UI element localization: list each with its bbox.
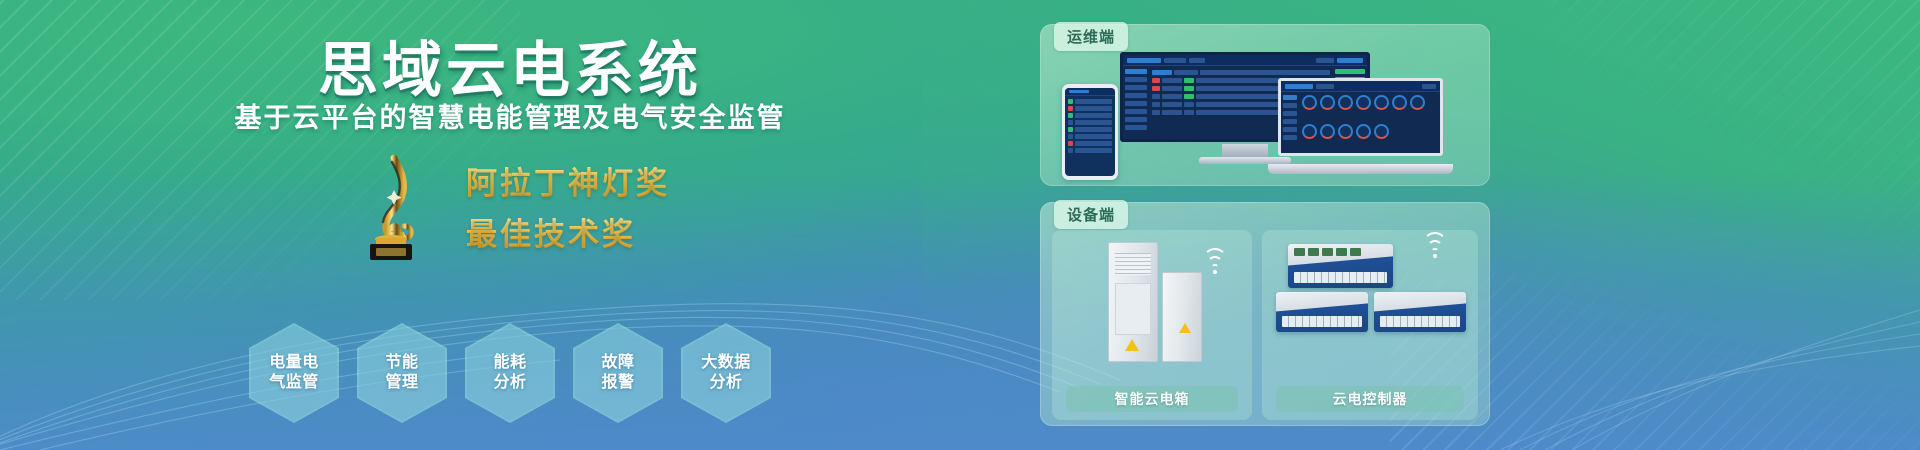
device-caption-cabinet: 智能云电箱 bbox=[1066, 386, 1238, 412]
gauge-dashboard-body bbox=[1281, 92, 1440, 153]
panel-devices-tag: 设备端 bbox=[1054, 200, 1128, 229]
gauge-icon bbox=[1356, 95, 1371, 110]
cabinet-main-body bbox=[1108, 242, 1158, 362]
feature-badge-label: 故障 报警 bbox=[601, 353, 634, 394]
feature-badge-2[interactable]: 节能 管理 bbox=[357, 323, 447, 423]
controller-terminal-strip bbox=[1380, 316, 1460, 327]
monitor-stand bbox=[1222, 144, 1268, 158]
panel-devices: 设备端 智能云电箱 bbox=[1040, 202, 1490, 426]
award-line-1: 阿拉丁神灯奖 bbox=[466, 158, 670, 203]
phone-dashboard-mock bbox=[1065, 88, 1115, 176]
gauge-dashboard-mock bbox=[1281, 81, 1440, 153]
laptop-icon bbox=[1268, 78, 1453, 174]
feature-badge-1[interactable]: 电量电 气监管 bbox=[249, 323, 339, 423]
award-section: 阿拉丁神灯奖 最佳技术奖 bbox=[0, 148, 1020, 263]
cabinet-side-body bbox=[1162, 272, 1202, 362]
promo-banner: 思域云电系统 基于云平台的智慧电能管理及电气安全监管 bbox=[0, 0, 1920, 450]
cabinet-panel bbox=[1115, 283, 1151, 335]
warning-triangle-icon bbox=[1125, 339, 1139, 351]
panel-operations: 运维端 bbox=[1040, 24, 1490, 186]
feature-badge-4[interactable]: 故障 报警 bbox=[573, 323, 663, 423]
laptop-base bbox=[1268, 164, 1453, 174]
gauge-icon bbox=[1338, 124, 1353, 139]
feature-badge-label: 节能 管理 bbox=[385, 353, 418, 394]
gauge-icon bbox=[1320, 95, 1335, 110]
phone-screen bbox=[1065, 88, 1115, 176]
laptop-screen bbox=[1278, 78, 1443, 156]
phone-list bbox=[1065, 96, 1115, 176]
cabinet-vent bbox=[1115, 253, 1151, 275]
diagonal-hatch-decoration-right bbox=[1550, 0, 1920, 260]
page-subtitle: 基于云平台的智慧电能管理及电气安全监管 bbox=[0, 96, 1020, 135]
electrical-cabinet-icon bbox=[1108, 242, 1204, 362]
trophy-icon bbox=[350, 150, 432, 262]
gauge-icon bbox=[1338, 95, 1353, 110]
gauge-icon bbox=[1392, 95, 1407, 110]
wifi-icon bbox=[1202, 252, 1228, 274]
device-caption-controller: 云电控制器 bbox=[1276, 386, 1464, 412]
gauge-icon bbox=[1302, 124, 1317, 139]
gauge-icon bbox=[1374, 95, 1389, 110]
warning-triangle-icon bbox=[1179, 323, 1191, 333]
phone-body bbox=[1062, 84, 1118, 180]
gauge-icon bbox=[1356, 124, 1371, 139]
gauge-dashboard-titlebar bbox=[1281, 81, 1440, 92]
award-line-2: 最佳技术奖 bbox=[466, 209, 670, 254]
gauge-grid bbox=[1299, 92, 1440, 153]
right-content: 运维端 bbox=[1040, 24, 1490, 426]
feature-badge-label: 能耗 分析 bbox=[493, 353, 526, 394]
wifi-icon bbox=[1422, 236, 1448, 258]
feature-badges: 电量电 气监管 节能 管理 能耗 分析 故障 报警 大数据 分析 bbox=[0, 318, 1020, 428]
gauge-icon bbox=[1302, 95, 1317, 110]
dashboard-sidebar bbox=[1123, 66, 1149, 139]
award-text-block: 阿拉丁神灯奖 最佳技术奖 bbox=[466, 158, 670, 254]
gauge-dashboard-sidebar bbox=[1281, 92, 1299, 153]
gauge-icon bbox=[1374, 124, 1389, 139]
gauge-icon bbox=[1410, 95, 1425, 110]
dashboard-titlebar bbox=[1123, 55, 1367, 66]
device-card-controller[interactable]: 云电控制器 bbox=[1262, 230, 1478, 420]
operations-device-stage bbox=[1040, 46, 1490, 184]
controller-terminal-strip bbox=[1294, 272, 1387, 283]
feature-badge-5[interactable]: 大数据 分析 bbox=[681, 323, 771, 423]
left-content: 思域云电系统 基于云平台的智慧电能管理及电气安全监管 bbox=[0, 0, 1020, 450]
feature-badge-label: 大数据 分析 bbox=[701, 353, 751, 394]
feature-badge-3[interactable]: 能耗 分析 bbox=[465, 323, 555, 423]
feature-badge-label: 电量电 气监管 bbox=[269, 353, 319, 394]
device-card-cabinet[interactable]: 智能云电箱 bbox=[1052, 230, 1252, 420]
mobile-phone-icon bbox=[1062, 84, 1118, 180]
controller-ports bbox=[1294, 248, 1361, 256]
phone-titlebar bbox=[1065, 88, 1115, 96]
controller-terminal-strip bbox=[1282, 316, 1362, 327]
gauge-icon bbox=[1320, 124, 1335, 139]
